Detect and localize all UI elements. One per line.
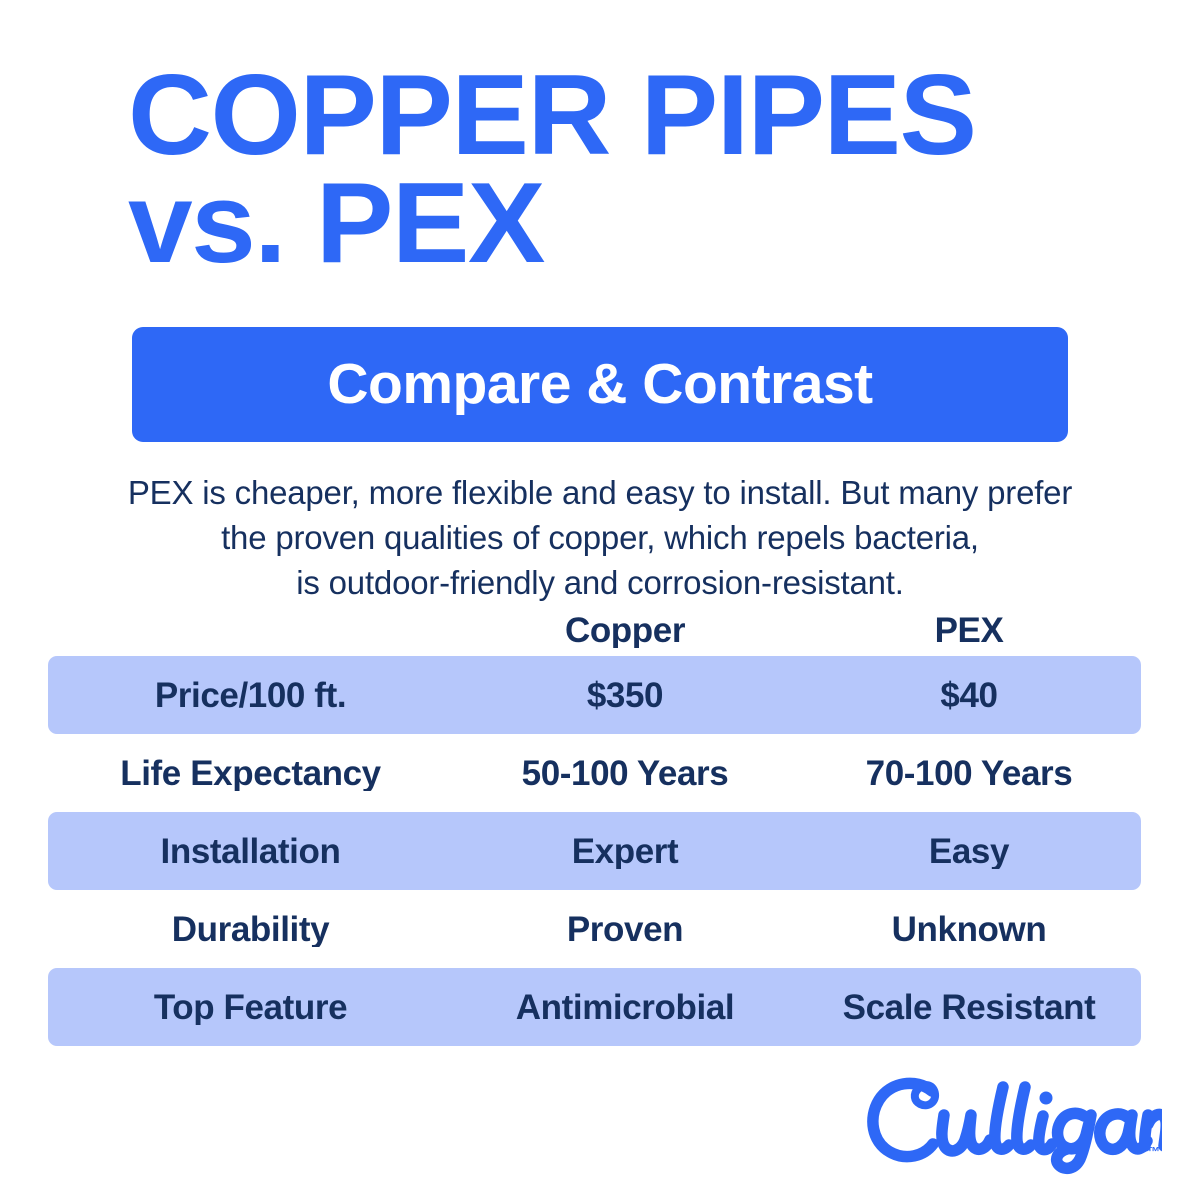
table-row: Durability Proven Unknown xyxy=(48,890,1141,968)
page-title: COPPER PIPES vs. PEX xyxy=(128,62,1128,278)
infographic-canvas: COPPER PIPES vs. PEX Compare & Contrast … xyxy=(0,0,1200,1200)
table-row: Installation Expert Easy xyxy=(48,812,1141,890)
comparison-table: Copper PEX Price/100 ft. $350 $40 Life E… xyxy=(48,604,1141,1046)
row-copper-value: $350 xyxy=(453,678,797,713)
title-line-1: COPPER PIPES xyxy=(128,62,1148,170)
culligan-wordmark-icon xyxy=(862,1068,1162,1176)
row-feature-label: Top Feature xyxy=(48,990,453,1025)
table-row: Price/100 ft. $350 $40 xyxy=(48,656,1141,734)
row-feature-label: Installation xyxy=(48,834,453,869)
compare-contrast-banner: Compare & Contrast xyxy=(132,327,1068,442)
row-feature-label: Durability xyxy=(48,912,453,947)
row-copper-value: Antimicrobial xyxy=(453,990,797,1025)
row-copper-value: 50-100 Years xyxy=(453,756,797,791)
intro-paragraph: PEX is cheaper, more flexible and easy t… xyxy=(60,470,1140,605)
table-row: Life Expectancy 50-100 Years 70-100 Year… xyxy=(48,734,1141,812)
header-copper: Copper xyxy=(453,613,797,648)
intro-line-3: is outdoor-friendly and corrosion-resist… xyxy=(60,560,1140,605)
table-row: Top Feature Antimicrobial Scale Resistan… xyxy=(48,968,1141,1046)
row-pex-value: Easy xyxy=(797,834,1141,869)
row-pex-value: 70-100 Years xyxy=(797,756,1141,791)
header-pex: PEX xyxy=(797,613,1141,648)
banner-label: Compare & Contrast xyxy=(327,356,872,413)
table-header-row: Copper PEX xyxy=(48,604,1141,656)
row-pex-value: $40 xyxy=(797,678,1141,713)
title-line-2: vs. PEX xyxy=(128,170,1148,278)
row-copper-value: Expert xyxy=(453,834,797,869)
culligan-logo: ™ xyxy=(862,1068,1162,1176)
trademark-symbol: ™ xyxy=(1147,1145,1160,1158)
row-pex-value: Scale Resistant xyxy=(797,990,1141,1025)
row-feature-label: Life Expectancy xyxy=(48,756,453,791)
intro-line-1: PEX is cheaper, more flexible and easy t… xyxy=(60,470,1140,515)
row-feature-label: Price/100 ft. xyxy=(48,678,453,713)
row-pex-value: Unknown xyxy=(797,912,1141,947)
logo-i-dot xyxy=(1040,1092,1053,1105)
intro-line-2: the proven qualities of copper, which re… xyxy=(60,515,1140,560)
row-copper-value: Proven xyxy=(453,912,797,947)
